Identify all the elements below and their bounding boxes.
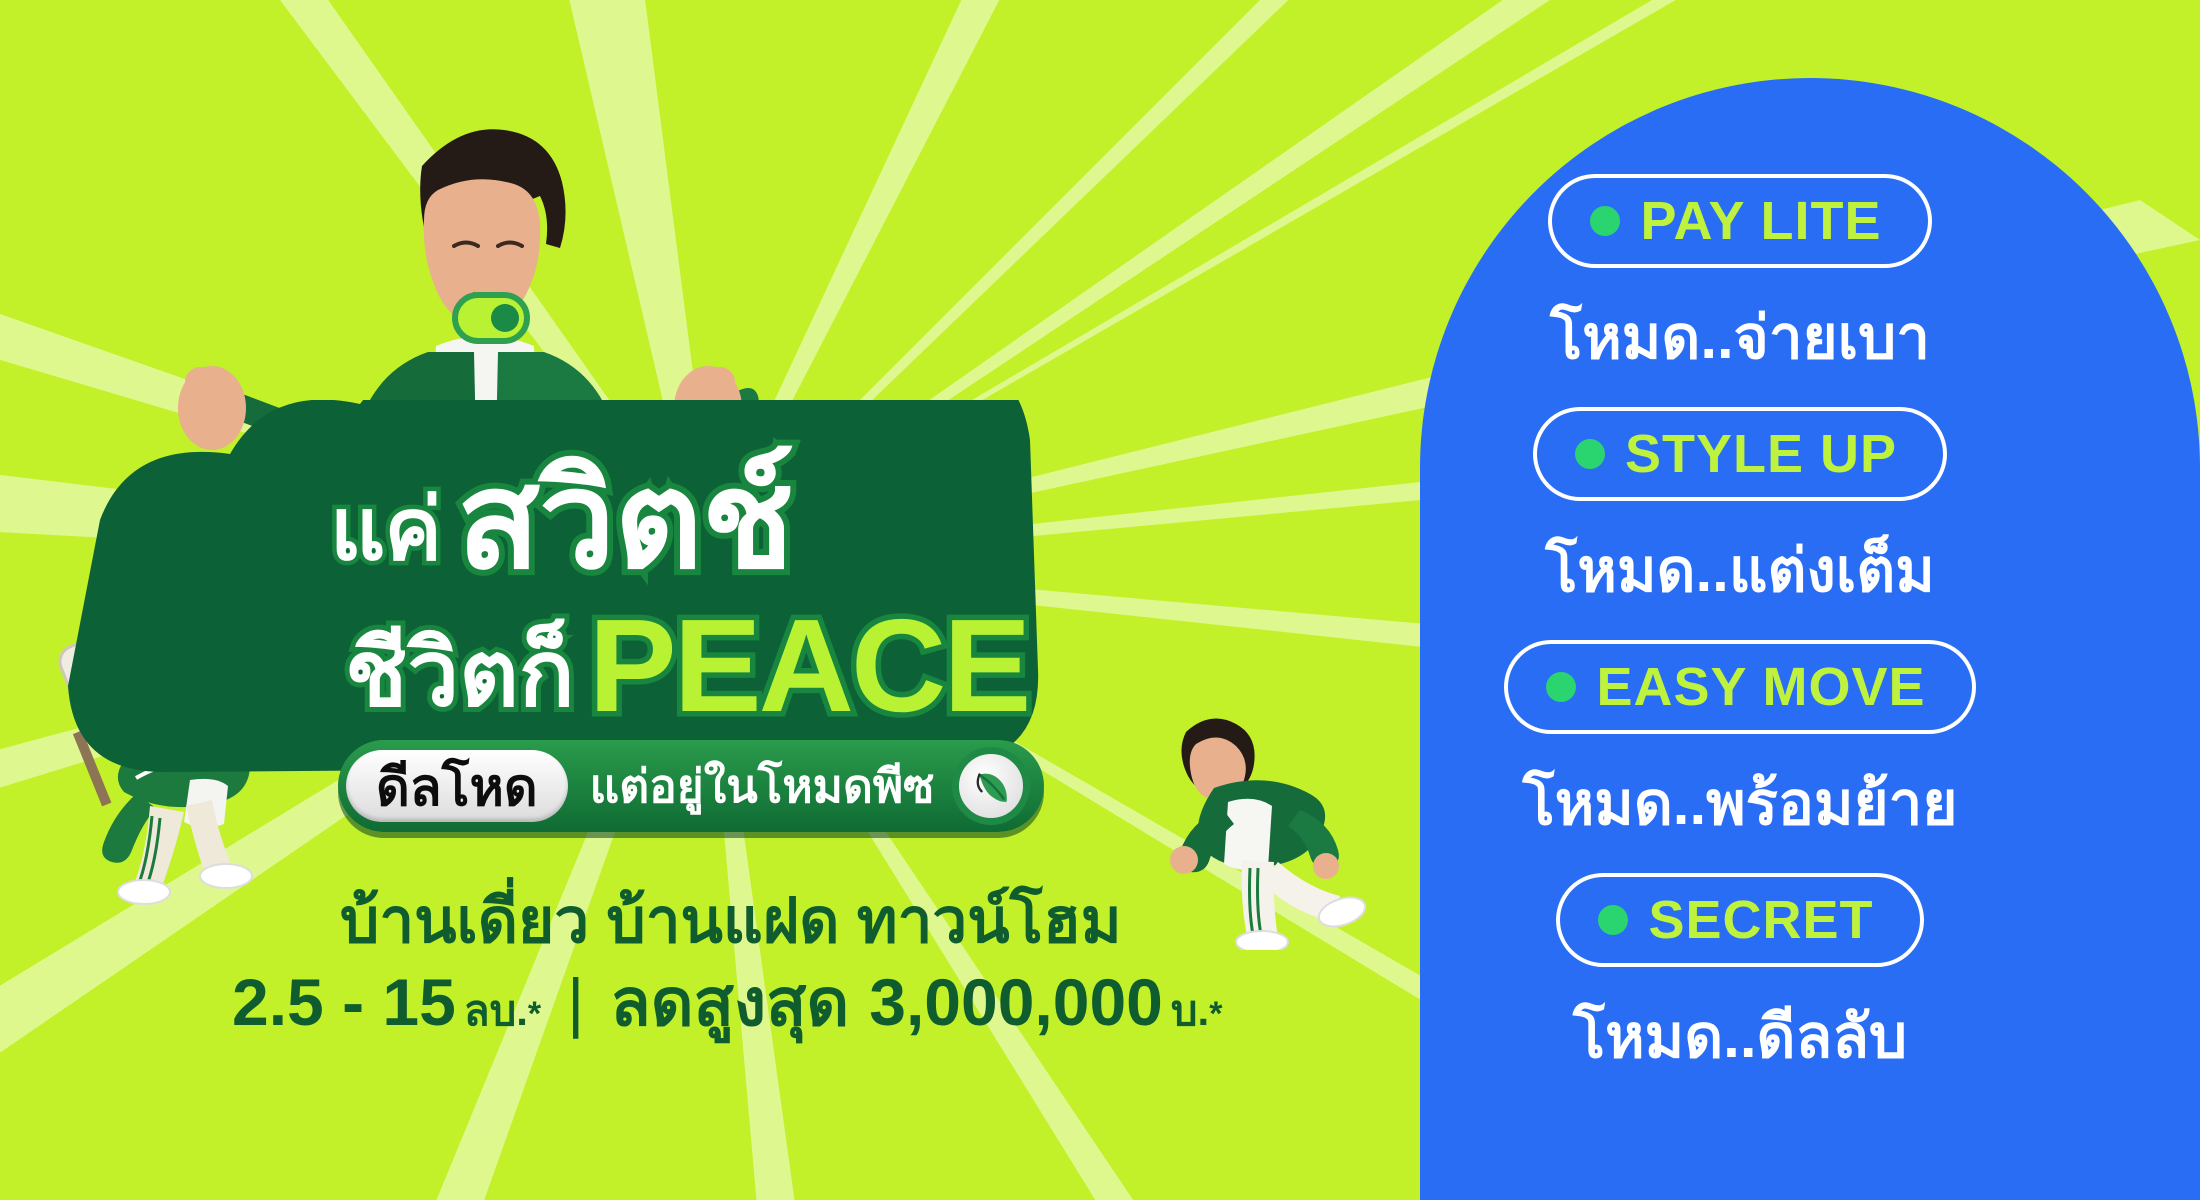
status-dot-icon xyxy=(1590,206,1620,236)
price-range: 2.5 - 15 xyxy=(232,964,456,1040)
discount-amount: 3,000,000 xyxy=(869,964,1163,1040)
discount-unit: บ. xyxy=(1171,978,1209,1044)
mode-label: STYLE UP xyxy=(1625,423,1897,485)
price-footnote-star: * xyxy=(528,995,541,1034)
price-separator: | xyxy=(567,964,584,1040)
deal-pill[interactable]: ดีลโหด แต่อยู่ในโหมดพีซ xyxy=(338,740,1044,832)
headline-prefix-1: แค่ xyxy=(330,482,441,578)
modes-panel: PAY LITE โหมด..จ่ายเบา STYLE UP โหมด..แต… xyxy=(1420,78,2200,1200)
mode-label: EASY MOVE xyxy=(1596,656,1925,718)
mode-item-style-up[interactable]: STYLE UP โหมด..แต่งเต็ม xyxy=(1420,407,2060,618)
status-dot-icon xyxy=(1598,905,1628,935)
deal-pill-text: แต่อยู่ในโหมดพีซ xyxy=(590,750,935,823)
mode-badge[interactable]: STYLE UP xyxy=(1533,407,1947,501)
mode-subtitle: โหมด..ดีลลับ xyxy=(1573,989,1907,1084)
mode-subtitle: โหมด..พร้อมย้าย xyxy=(1523,756,1958,851)
mode-badge[interactable]: PAY LITE xyxy=(1548,174,1931,268)
price-unit: ลบ. xyxy=(464,978,528,1044)
mode-label: SECRET xyxy=(1648,889,1873,951)
mode-badge[interactable]: SECRET xyxy=(1556,873,1923,967)
mode-label: PAY LITE xyxy=(1640,190,1881,252)
mode-item-easy-move[interactable]: EASY MOVE โหมด..พร้อมย้าย xyxy=(1420,640,2060,851)
status-dot-icon xyxy=(1575,439,1605,469)
mode-badge[interactable]: EASY MOVE xyxy=(1504,640,1975,734)
mode-item-secret[interactable]: SECRET โหมด..ดีลลับ xyxy=(1420,873,2060,1084)
leaf-badge xyxy=(952,747,1030,825)
promo-banner: แค่สวิตช์ ชีวิตก็PEACE ดีลโหด แต่อยู่ในโ… xyxy=(0,0,2200,1200)
mode-subtitle: โหมด..แต่งเต็ม xyxy=(1545,523,1935,618)
headline-block: แค่สวิตช์ ชีวิตก็PEACE ดีลโหด แต่อยู่ในโ… xyxy=(0,0,1420,1200)
mode-subtitle: โหมด..จ่ายเบา xyxy=(1550,290,1930,385)
status-dot-icon xyxy=(1546,672,1576,702)
headline-line-1: แค่สวิตช์ xyxy=(330,452,793,588)
modes-list: PAY LITE โหมด..จ่ายเบา STYLE UP โหมด..แต… xyxy=(1420,174,2060,1084)
discount-footnote-star: * xyxy=(1209,995,1222,1034)
headline-prefix-2: ชีวิตก็ xyxy=(345,623,575,725)
toggle-switch-icon[interactable] xyxy=(452,292,530,344)
headline-main-1: สวิตช์ xyxy=(457,444,793,596)
headline-line-2: ชีวิตก็PEACE xyxy=(345,600,1028,732)
mode-item-pay-lite[interactable]: PAY LITE โหมด..จ่ายเบา xyxy=(1420,174,2060,385)
leaf-icon xyxy=(970,765,1012,807)
discount-label: ลดสูงสุด xyxy=(610,950,849,1055)
deal-chip-label: ดีลโหด xyxy=(346,750,568,822)
headline-main-2: PEACE xyxy=(589,592,1029,739)
price-line: 2.5 - 15 ลบ. * | ลดสูงสุด 3,000,000 บ. * xyxy=(232,950,1222,1055)
